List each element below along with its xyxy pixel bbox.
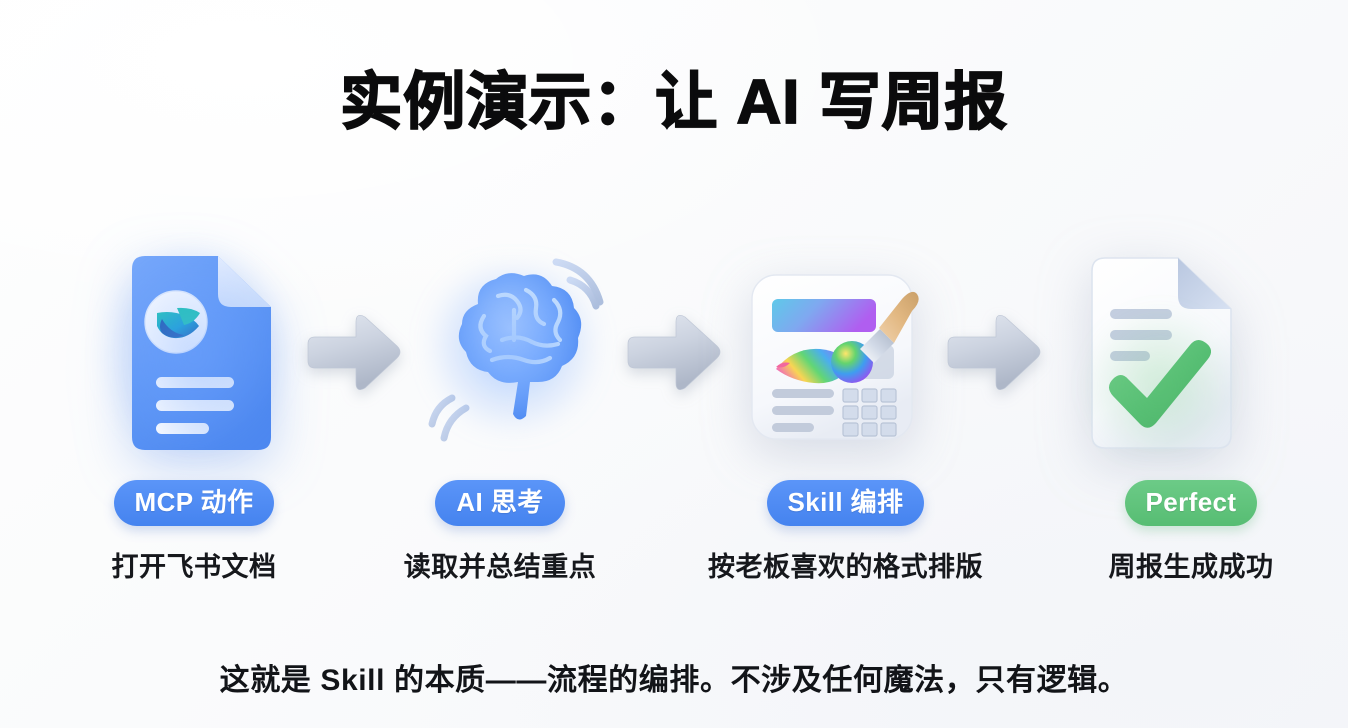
right-arrow-icon — [304, 310, 404, 396]
brain-glow — [428, 266, 598, 432]
step-1-icon — [96, 233, 292, 473]
footer-text: 这就是 Skill 的本质——流程的编排。不涉及任何魔法，只有逻辑。 — [0, 655, 1348, 699]
step-3-labels: Skill 编排 按老板喜欢的格式排版 — [708, 480, 983, 584]
caption-step-1: 打开飞书文档 — [112, 545, 277, 584]
arrow-step3-to-step4 — [939, 298, 1049, 408]
step-1-labels: MCP 动作 打开飞书文档 — [96, 480, 292, 584]
step-2-icon — [416, 233, 612, 473]
right-arrow-icon — [944, 310, 1044, 396]
right-arrow-icon — [624, 310, 724, 396]
badge-perfect: Perfect — [1125, 480, 1258, 526]
slide-canvas: 实例演示：让 AI 写周报 — [0, 0, 1348, 728]
step-labels-row: MCP 动作 打开飞书文档 AI 思考 读取并总结重点 Skill 编排 按老板… — [96, 480, 1252, 584]
flow-diagram — [96, 228, 1252, 478]
caption-step-2: 读取并总结重点 — [404, 545, 597, 584]
thinking-brain-icon — [414, 248, 614, 458]
arrow-step2-to-step3 — [619, 298, 729, 408]
page-title: 实例演示：让 AI 写周报 — [0, 68, 1348, 137]
caption-step-4: 周报生成成功 — [1109, 545, 1274, 584]
blue-glow — [92, 237, 296, 471]
feishu-document-icon — [114, 253, 274, 453]
badge-ai-thinking: AI 思考 — [435, 480, 564, 526]
step-4-icon — [1056, 233, 1252, 473]
badge-skill-orchestration: Skill 编排 — [767, 480, 925, 526]
step-2-labels: AI 思考 读取并总结重点 — [402, 480, 598, 584]
arrow-step1-to-step2 — [299, 298, 409, 408]
green-glow — [1080, 303, 1240, 453]
badge-mcp-action: MCP 动作 — [114, 480, 275, 526]
layout-brush-glyph — [746, 263, 922, 449]
caption-step-3: 按老板喜欢的格式排版 — [708, 545, 983, 584]
step-4-labels: Perfect 周报生成成功 — [1093, 480, 1289, 584]
step-3-icon — [736, 233, 932, 473]
document-checkmark-icon — [1074, 253, 1234, 453]
design-layout-brush-icon — [746, 263, 922, 443]
